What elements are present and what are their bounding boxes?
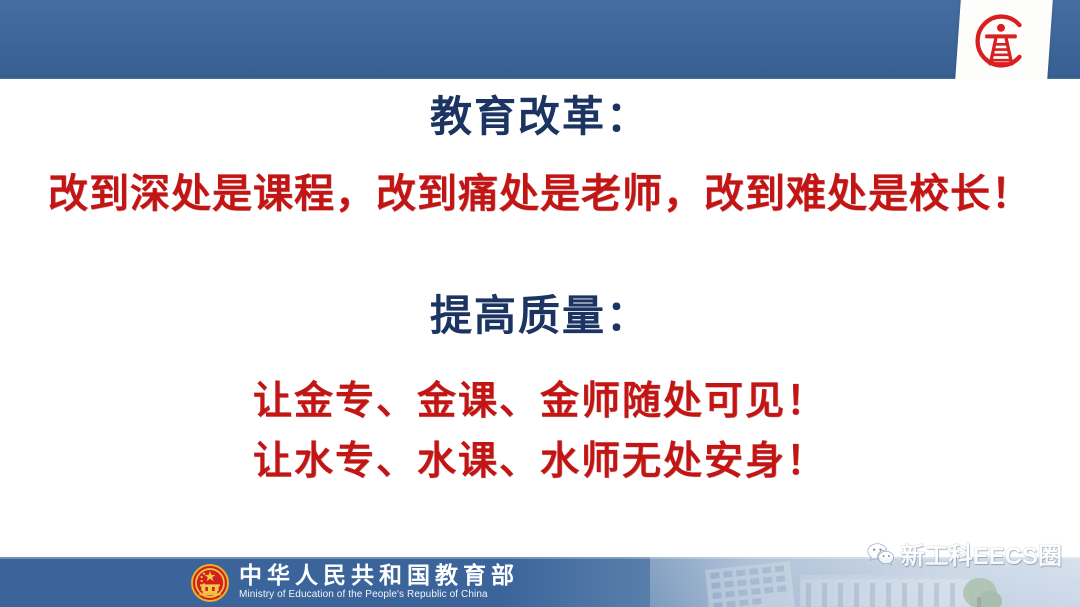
national-emblem-of-china: [190, 563, 230, 603]
wechat-watermark: 新工科EECS圈: [867, 536, 1062, 571]
ministry-of-education-lockup: 中华人民共和国教育部 Ministry of Education of the …: [190, 558, 519, 607]
top-blue-band: [0, 0, 1080, 79]
tianjin-university-logo: [968, 8, 1034, 74]
ministry-text-block: 中华人民共和国教育部 Ministry of Education of the …: [239, 563, 519, 601]
ministry-name-cn: 中华人民共和国教育部: [239, 563, 519, 588]
reform-statement-line: 改到深处是课程，改到痛处是老师，改到难处是校长！: [0, 161, 1080, 219]
watermark-label: 新工科EECS圈: [901, 536, 1062, 571]
heading-education-reform: 教育改革：: [0, 93, 1080, 141]
heading-improve-quality: 提高质量：: [0, 292, 1080, 340]
slide-canvas: 教育改革： 改到深处是课程，改到痛处是老师，改到难处是校长！ 提高质量： 让金专…: [0, 0, 1080, 607]
wechat-icon: [867, 542, 894, 566]
quality-statement-line-2: 让水专、水课、水师无处安身！: [0, 430, 1080, 486]
quality-statement-line-1: 让金专、金课、金师随处可见！: [0, 370, 1080, 426]
ministry-name-en: Ministry of Education of the People's Re…: [239, 589, 519, 602]
top-band-shading: [0, 0, 1080, 79]
